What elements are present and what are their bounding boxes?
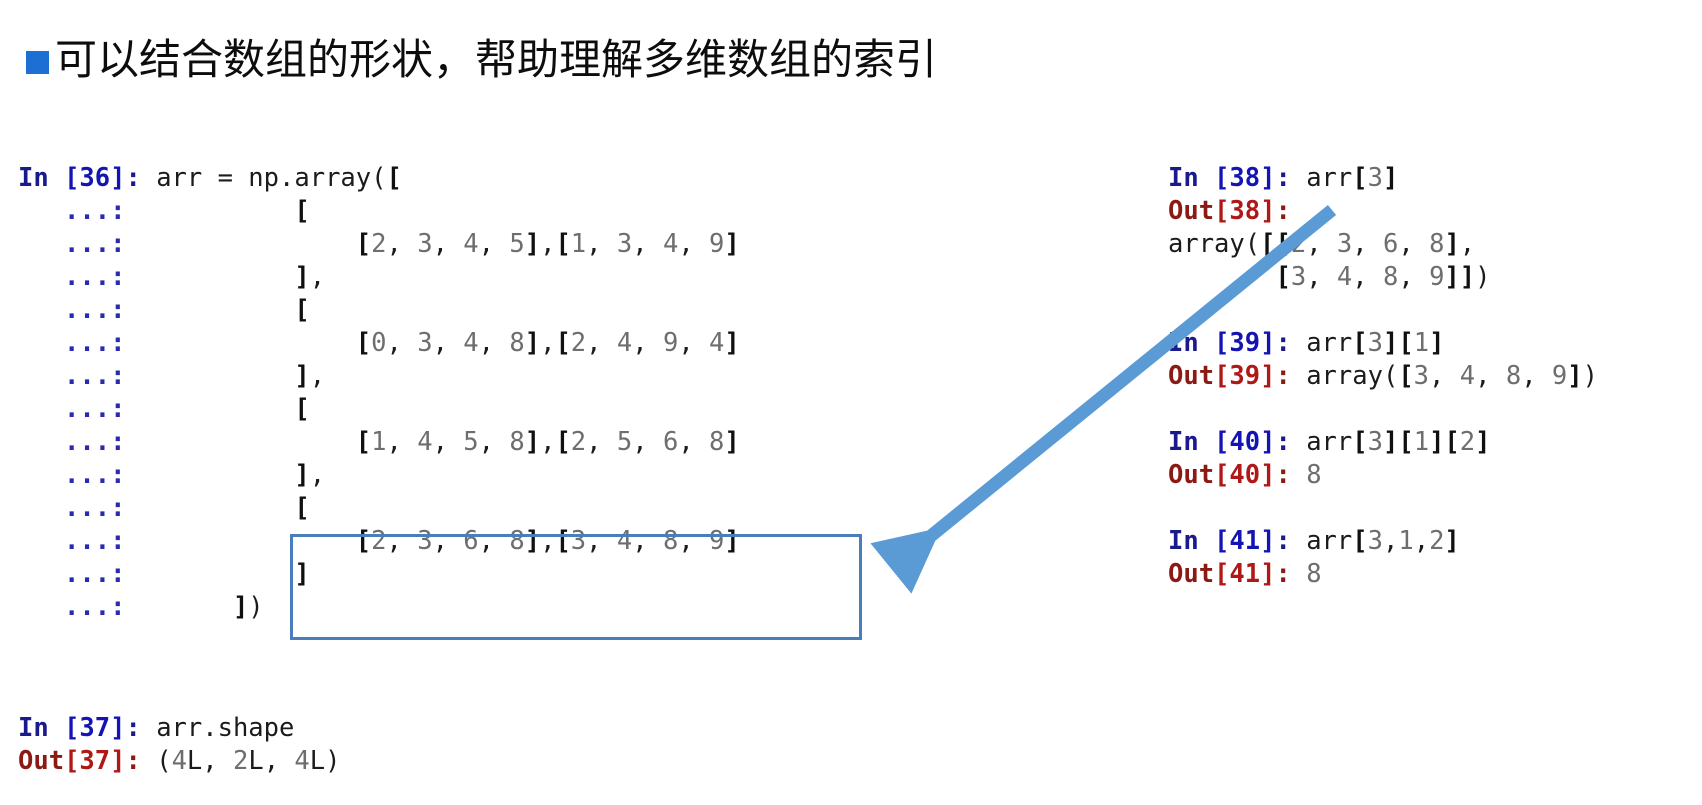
bullet-square-icon	[26, 51, 49, 74]
ipython-console-shape: In [37]: arr.shapeOut[37]: (4L, 2L, 4L)	[18, 712, 340, 778]
console-line: Out[39]: array([3, 4, 8, 9])	[1168, 360, 1598, 393]
console-line: Out[38]:	[1168, 195, 1598, 228]
console-line: Out[40]: 8	[1168, 459, 1598, 492]
page-title: 可以结合数组的形状，帮助理解多维数组的索引	[26, 36, 937, 83]
console-line	[1168, 492, 1598, 525]
console-line: In [38]: arr[3]	[1168, 162, 1598, 195]
console-line: ...: [	[18, 294, 740, 327]
console-line: ...: [	[18, 393, 740, 426]
console-line: In [39]: arr[3][1]	[1168, 327, 1598, 360]
console-line: In [40]: arr[3][1][2]	[1168, 426, 1598, 459]
console-line: ...: ],	[18, 360, 740, 393]
console-line: ...: [	[18, 492, 740, 525]
highlight-box	[290, 534, 862, 640]
console-line: In [41]: arr[3,1,2]	[1168, 525, 1598, 558]
console-line: ...: [	[18, 195, 740, 228]
console-line: Out[37]: (4L, 2L, 4L)	[18, 745, 340, 778]
console-line: ...: ],	[18, 459, 740, 492]
console-line: Out[41]: 8	[1168, 558, 1598, 591]
console-line: In [36]: arr = np.array([	[18, 162, 740, 195]
page-title-text: 可以结合数组的形状，帮助理解多维数组的索引	[55, 36, 937, 83]
console-line: ...: [2, 3, 4, 5],[1, 3, 4, 9]	[18, 228, 740, 261]
console-line: In [37]: arr.shape	[18, 712, 340, 745]
console-line: array([[2, 3, 6, 8],	[1168, 228, 1598, 261]
console-line	[1168, 393, 1598, 426]
console-line: ...: [1, 4, 5, 8],[2, 5, 6, 8]	[18, 426, 740, 459]
console-line	[1168, 294, 1598, 327]
console-line: ...: [0, 3, 4, 8],[2, 4, 9, 4]	[18, 327, 740, 360]
console-line: [3, 4, 8, 9]])	[1168, 261, 1598, 294]
console-line: ...: ],	[18, 261, 740, 294]
ipython-console-right: In [38]: arr[3]Out[38]:array([[2, 3, 6, …	[1168, 162, 1598, 591]
